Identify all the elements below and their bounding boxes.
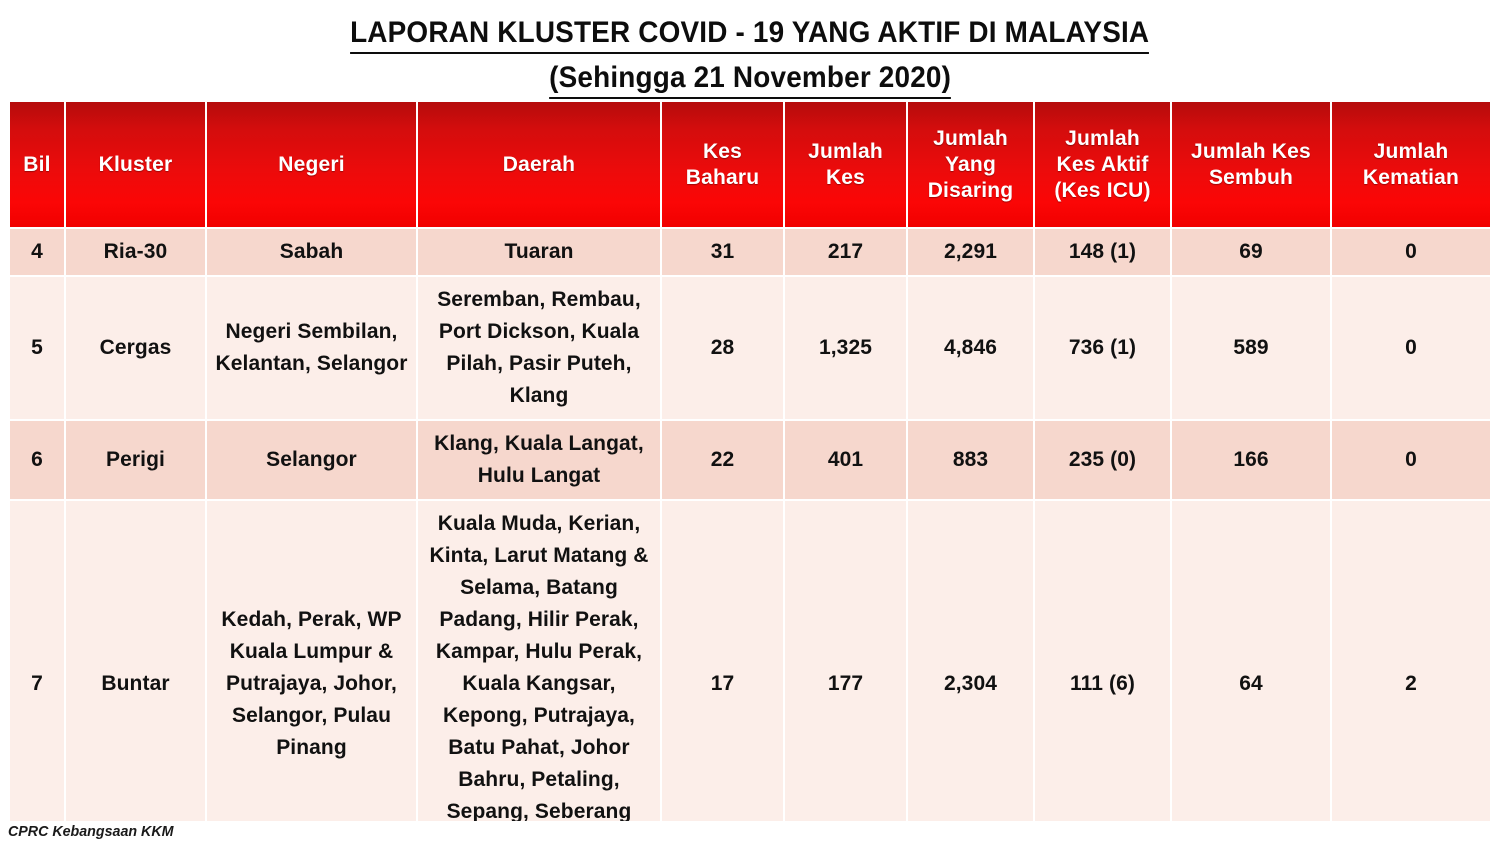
cell-jumlah-aktif: 235 (0) xyxy=(1035,421,1172,501)
table-row[interactable]: 6PerigiSelangorKlang, Kuala Langat, Hulu… xyxy=(10,421,1490,501)
cell-jumlah-disaring: 883 xyxy=(908,421,1035,501)
cell-kes-baharu: 22 xyxy=(662,421,785,501)
column-header-text: Kluster xyxy=(99,153,173,176)
cell-kes-baharu: 17 xyxy=(662,501,785,821)
column-header-kes-baharu[interactable]: KesBaharu xyxy=(662,102,785,229)
slide-page: LAPORAN KLUSTER COVID - 19 YANG AKTIF DI… xyxy=(0,0,1500,849)
column-header-text: (Kes ICU) xyxy=(1054,179,1150,202)
table-header: BilKlusterNegeriDaerahKesBaharuJumlahKes… xyxy=(10,102,1490,229)
cluster-report-table-wrapper: BilKlusterNegeriDaerahKesBaharuJumlahKes… xyxy=(10,102,1490,821)
page-title-line-1: LAPORAN KLUSTER COVID - 19 YANG AKTIF DI… xyxy=(350,14,1149,54)
column-header-text: Bil xyxy=(23,153,50,176)
cell-jumlah-sembuh: 166 xyxy=(1172,421,1332,501)
cell-jumlah-aktif: 148 (1) xyxy=(1035,229,1172,277)
column-header-text: Yang xyxy=(945,153,996,176)
cell-jumlah-sembuh: 589 xyxy=(1172,277,1332,421)
cell-bil: 7 xyxy=(10,501,66,821)
column-header-text: Kes xyxy=(826,166,865,189)
cell-jumlah-kes: 177 xyxy=(785,501,908,821)
cell-bil: 5 xyxy=(10,277,66,421)
column-header-bil[interactable]: Bil xyxy=(10,102,66,229)
cell-jumlah-disaring: 4,846 xyxy=(908,277,1035,421)
cell-jumlah-kes: 401 xyxy=(785,421,908,501)
cell-jumlah-kes: 217 xyxy=(785,229,908,277)
cell-daerah: Klang, Kuala Langat, Hulu Langat xyxy=(418,421,662,501)
column-header-text: Kematian xyxy=(1363,166,1459,189)
column-header-daerah[interactable]: Daerah xyxy=(418,102,662,229)
cell-daerah: Tuaran xyxy=(418,229,662,277)
cell-bil: 4 xyxy=(10,229,66,277)
column-header-jumlah-yang-disaring[interactable]: JumlahYangDisaring xyxy=(908,102,1035,229)
column-header-text: Kes xyxy=(703,140,742,163)
cell-daerah: Seremban, Rembau, Port Dickson, Kuala Pi… xyxy=(418,277,662,421)
cell-bil: 6 xyxy=(10,421,66,501)
column-header-jumlah-kematian[interactable]: JumlahKematian xyxy=(1332,102,1490,229)
cell-jumlah-aktif: 111 (6) xyxy=(1035,501,1172,821)
cell-jumlah-kematian: 0 xyxy=(1332,229,1490,277)
page-title-line-2: (Sehingga 21 November 2020) xyxy=(549,59,951,99)
column-header-text: Jumlah xyxy=(1065,127,1140,150)
column-header-kluster[interactable]: Kluster xyxy=(66,102,207,229)
cell-kluster: Ria-30 xyxy=(66,229,207,277)
cell-jumlah-disaring: 2,304 xyxy=(908,501,1035,821)
footer-note: CPRC Kebangsaan KKM xyxy=(8,822,173,841)
table-header-row: BilKlusterNegeriDaerahKesBaharuJumlahKes… xyxy=(10,102,1490,229)
table-row[interactable]: 4Ria-30SabahTuaran312172,291148 (1)690 xyxy=(10,229,1490,277)
column-header-text: Daerah xyxy=(503,153,575,176)
cell-jumlah-sembuh: 69 xyxy=(1172,229,1332,277)
cell-jumlah-kematian: 2 xyxy=(1332,501,1490,821)
cell-jumlah-sembuh: 64 xyxy=(1172,501,1332,821)
page-title: LAPORAN KLUSTER COVID - 19 YANG AKTIF DI… xyxy=(0,14,1500,99)
column-header-text: Jumlah xyxy=(1374,140,1449,163)
column-header-text: Jumlah xyxy=(933,127,1008,150)
cell-negeri: Sabah xyxy=(207,229,418,277)
cell-jumlah-disaring: 2,291 xyxy=(908,229,1035,277)
cell-negeri: Kedah, Perak, WP Kuala Lumpur & Putrajay… xyxy=(207,501,418,821)
column-header-text: Baharu xyxy=(686,166,760,189)
cluster-report-table: BilKlusterNegeriDaerahKesBaharuJumlahKes… xyxy=(10,102,1490,821)
column-header-negeri[interactable]: Negeri xyxy=(207,102,418,229)
cell-jumlah-kematian: 0 xyxy=(1332,421,1490,501)
cell-daerah: Kuala Muda, Kerian, Kinta, Larut Matang … xyxy=(418,501,662,821)
cell-jumlah-kes: 1,325 xyxy=(785,277,908,421)
cell-jumlah-kematian: 0 xyxy=(1332,277,1490,421)
cell-kluster: Buntar xyxy=(66,501,207,821)
column-header-text: Kes Aktif xyxy=(1056,153,1148,176)
cell-kes-baharu: 28 xyxy=(662,277,785,421)
cell-kes-baharu: 31 xyxy=(662,229,785,277)
column-header-text: Jumlah xyxy=(808,140,883,163)
column-header-text: Disaring xyxy=(928,179,1014,202)
cell-negeri: Negeri Sembilan, Kelantan, Selangor xyxy=(207,277,418,421)
column-header-jumlah-kes-sembuh[interactable]: Jumlah KesSembuh xyxy=(1172,102,1332,229)
table-body: 4Ria-30SabahTuaran312172,291148 (1)6905C… xyxy=(10,229,1490,821)
cell-kluster: Cergas xyxy=(66,277,207,421)
cell-kluster: Perigi xyxy=(66,421,207,501)
column-header-jumlah-kes[interactable]: JumlahKes xyxy=(785,102,908,229)
column-header-jumlah-kes-aktif[interactable]: JumlahKes Aktif(Kes ICU) xyxy=(1035,102,1172,229)
column-header-text: Negeri xyxy=(278,153,345,176)
cell-jumlah-aktif: 736 (1) xyxy=(1035,277,1172,421)
table-row[interactable]: 7BuntarKedah, Perak, WP Kuala Lumpur & P… xyxy=(10,501,1490,821)
column-header-text: Jumlah Kes xyxy=(1191,140,1311,163)
table-row[interactable]: 5CergasNegeri Sembilan, Kelantan, Selang… xyxy=(10,277,1490,421)
column-header-text: Sembuh xyxy=(1209,166,1293,189)
cell-negeri: Selangor xyxy=(207,421,418,501)
